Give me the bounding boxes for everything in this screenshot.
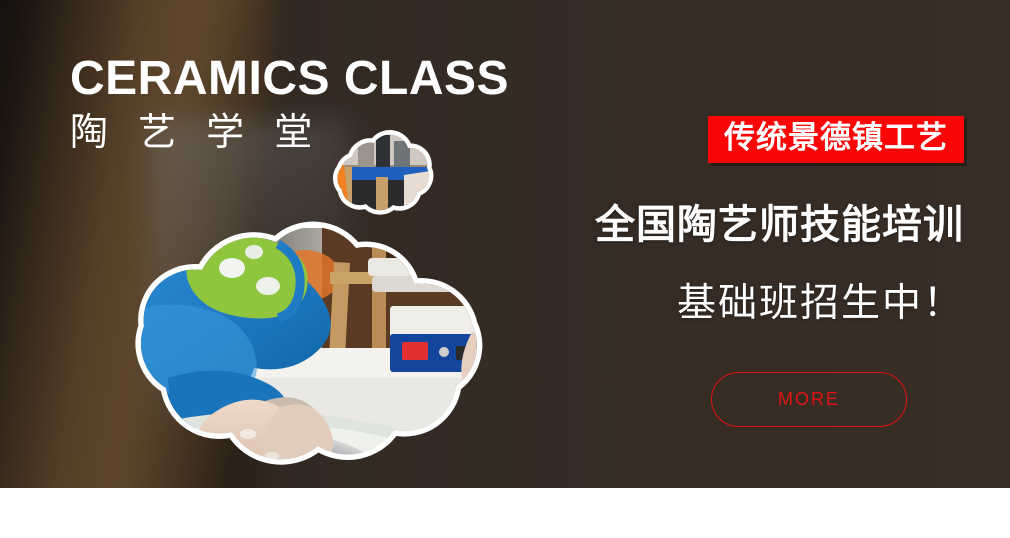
main-cloud-photo: [72, 228, 532, 516]
ceramics-class-banner: CERAMICS CLASS 陶 艺 学 堂: [0, 0, 1010, 538]
small-cloud-photo: [318, 131, 436, 227]
headline-line-2: 基础班招生中！: [677, 272, 964, 328]
headline-line-1: 全国陶艺师技能培训: [595, 192, 964, 250]
tradition-badge: 传统景德镇工艺: [708, 116, 964, 163]
chinese-title: 陶 艺 学 堂: [70, 112, 509, 154]
main-cloud-image: [72, 228, 532, 524]
english-title: CERAMICS CLASS: [70, 55, 509, 103]
banner-heading: CERAMICS CLASS 陶 艺 学 堂: [70, 55, 509, 154]
more-button[interactable]: MORE: [711, 372, 907, 427]
bottom-white-band: [0, 488, 1010, 538]
